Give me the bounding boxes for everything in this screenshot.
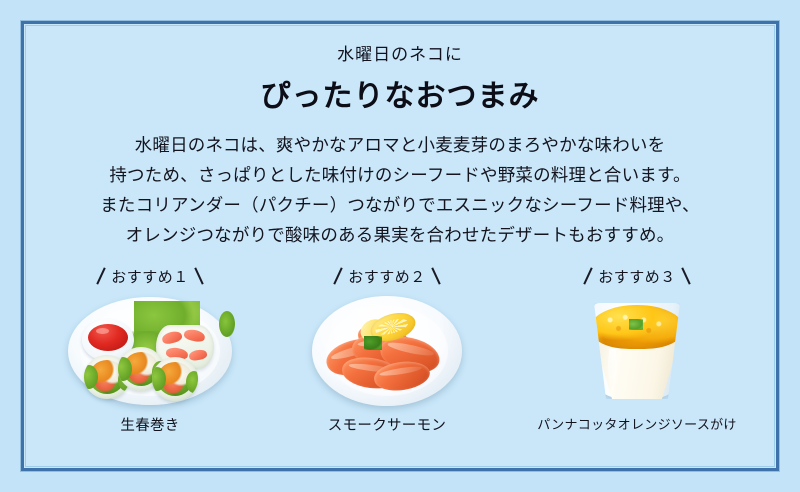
plate-graphic <box>312 296 462 406</box>
description-paragraph: 水曜日のネコは、爽やかなアロマと小麦麦芽のまろやかな味わいを 持つため、さっぱり… <box>26 131 774 251</box>
recommendation-badge-label-2: おすすめ２ <box>348 266 426 287</box>
recommendation-item-3: おすすめ３ パンナコッタオレンジソースがけ <box>506 265 768 435</box>
description-line-3: またコリアンダー（パクチー）つながりでエスニックなシーフード料理や、 <box>34 191 766 221</box>
slash-right-icon <box>681 267 690 284</box>
chili-sauce-graphic <box>88 324 128 351</box>
herb-garnish-graphic <box>364 336 382 350</box>
recommendation-caption-1: 生春巻き <box>120 414 179 435</box>
leaf-graphic <box>186 371 198 393</box>
shrimp-graphic <box>183 328 206 343</box>
pairing-infographic-poster: 水曜日のネコに ぴったりなおつまみ 水曜日のネコは、爽やかなアロマと小麦麦芽のま… <box>0 0 800 492</box>
slash-left-icon <box>334 267 343 284</box>
slash-left-icon <box>584 267 593 284</box>
subtitle-line: 水曜日のネコに <box>26 40 774 65</box>
plate-graphic <box>68 297 232 405</box>
dessert-glass-graphic <box>594 303 680 399</box>
orange-sauce-graphic <box>591 305 683 349</box>
recommendation-badge-1: おすすめ１ <box>100 265 200 287</box>
page-title: ぴったりなおつまみ <box>26 71 774 115</box>
description-line-2: 持つため、さっぱりとした味付けのシーフードや野菜の料理と合います。 <box>34 161 766 191</box>
recommendation-item-2: おすすめ２ <box>268 265 506 435</box>
recommendation-badge-label-1: おすすめ１ <box>111 266 189 287</box>
leaf-graphic <box>219 311 235 337</box>
glass-highlight-graphic <box>608 343 617 389</box>
recommendation-caption-3: パンナコッタオレンジソースがけ <box>537 414 737 433</box>
smoked-salmon-photo <box>268 291 506 409</box>
slash-right-icon <box>431 267 440 284</box>
description-line-1: 水曜日のネコは、爽やかなアロマと小麦麦芽のまろやかな味わいを <box>34 131 766 161</box>
recommendation-badge-2: おすすめ２ <box>337 265 437 287</box>
slash-left-icon <box>97 267 106 284</box>
recommendations-row: おすすめ１ <box>26 265 774 435</box>
recommendation-item-1: おすすめ１ <box>32 265 268 435</box>
shrimp-graphic <box>161 330 183 346</box>
slash-right-icon <box>194 267 203 284</box>
panna-cotta-orange-sauce-photo <box>506 291 768 409</box>
mint-leaf-graphic <box>629 319 643 330</box>
spring-roll-slice-graphic <box>152 357 198 401</box>
description-line-4: オレンジつながりで酸味のある果実を合わせたデザートもおすすめ。 <box>34 221 766 251</box>
recommendation-caption-2: スモークサーモン <box>328 414 446 435</box>
recommendation-badge-label-3: おすすめ３ <box>598 266 676 287</box>
poster-content: 水曜日のネコに ぴったりなおつまみ 水曜日のネコは、爽やかなアロマと小麦麦芽のま… <box>26 26 774 466</box>
fresh-spring-rolls-photo <box>32 291 268 409</box>
shrimp-graphic <box>188 349 207 362</box>
recommendation-badge-3: おすすめ３ <box>587 265 687 287</box>
